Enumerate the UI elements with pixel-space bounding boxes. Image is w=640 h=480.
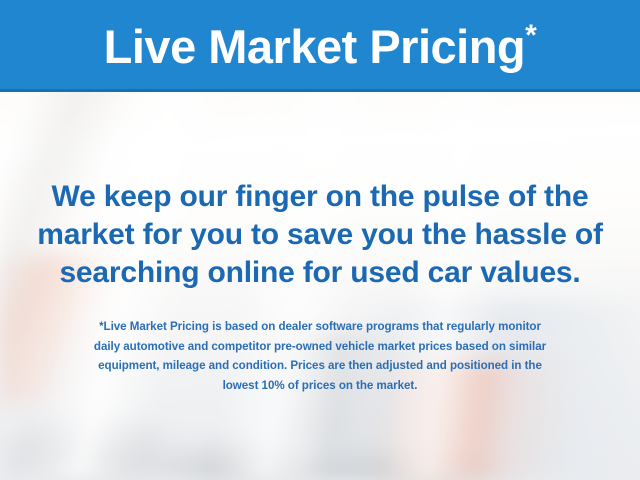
headline-block: We keep our finger on the pulse of the m… <box>22 178 618 292</box>
headline-line-2: market for you to save you the hassle of <box>22 216 618 254</box>
footnote-line-1: *Live Market Pricing is based on dealer … <box>20 317 620 337</box>
page-title-text: Live Market Pricing <box>104 20 526 73</box>
live-market-pricing-slide: Live Market Pricing* We keep our finger … <box>0 0 640 480</box>
headline-line-3: searching online for used car values. <box>22 254 618 292</box>
page-title: Live Market Pricing* <box>104 21 537 70</box>
footnote-disclaimer: *Live Market Pricing is based on dealer … <box>20 317 620 395</box>
footnote-line-2: daily automotive and competitor pre-owne… <box>20 337 620 357</box>
headline-line-1: We keep our finger on the pulse of the <box>22 178 618 216</box>
page-title-asterisk: * <box>525 19 536 52</box>
footnote-line-3: equipment, mileage and condition. Prices… <box>20 356 620 376</box>
header-band: Live Market Pricing* <box>0 0 640 92</box>
footnote-line-4: lowest 10% of prices on the market. <box>20 376 620 396</box>
